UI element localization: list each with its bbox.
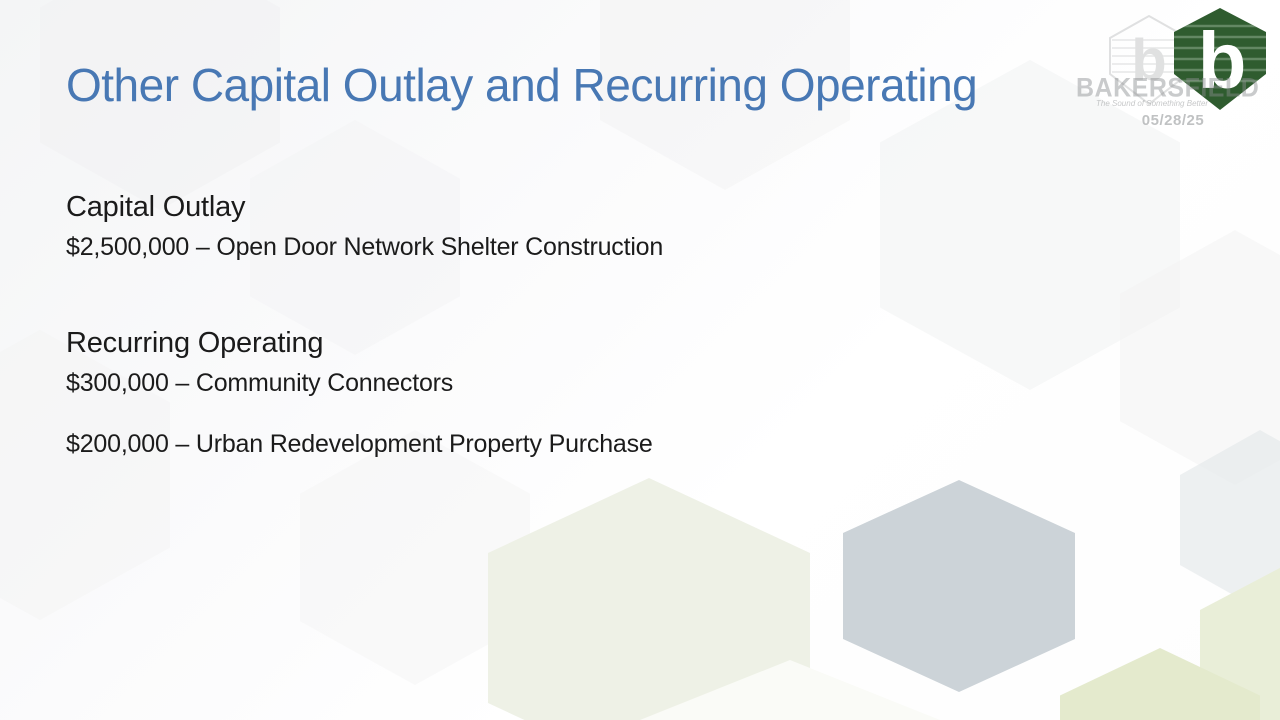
broadcast-overlay: b b BAKERSFIELD The Sound of Something B…	[1080, 0, 1280, 150]
line-spacer	[66, 399, 1046, 421]
content-section-recurring-operating: Recurring Operating $300,000 – Community…	[66, 326, 1046, 461]
broadcast-date: 05/28/25	[1108, 112, 1238, 129]
section-line-item: $200,000 – Urban Redevelopment Property …	[66, 428, 1046, 461]
accent-hexagon-white	[640, 660, 940, 720]
background-hexagon	[300, 430, 530, 685]
section-spacer	[66, 264, 1046, 326]
accent-hexagon-green	[1200, 560, 1280, 720]
section-heading: Capital Outlay	[66, 190, 1046, 224]
slide-title: Other Capital Outlay and Recurring Opera…	[66, 58, 1186, 112]
content-section-capital-outlay: Capital Outlay $2,500,000 – Open Door Ne…	[66, 190, 1046, 264]
section-heading: Recurring Operating	[66, 326, 1046, 360]
section-line-item: $300,000 – Community Connectors	[66, 367, 1046, 400]
station-tagline: The Sound of Something Better	[1096, 99, 1246, 108]
background-hexagon	[1120, 230, 1280, 485]
presentation-slide: Other Capital Outlay and Recurring Opera…	[0, 0, 1280, 720]
accent-hexagon-green	[1060, 648, 1260, 720]
accent-hexagon-gray	[1180, 430, 1280, 610]
accent-hexagon-gray	[843, 480, 1075, 692]
slide-content: Capital Outlay $2,500,000 – Open Door Ne…	[66, 190, 1046, 461]
accent-hexagon-green	[488, 478, 810, 720]
section-line-item: $2,500,000 – Open Door Network Shelter C…	[66, 231, 1046, 264]
